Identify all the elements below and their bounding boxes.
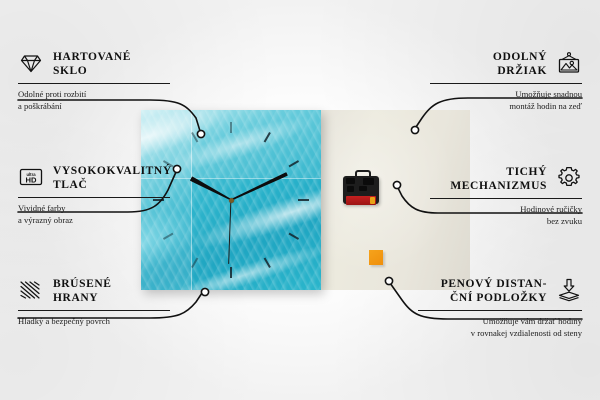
picture-frame-icon: [556, 50, 582, 76]
feature-description: Hladký a bezpečný povrch: [18, 316, 170, 328]
feature-divider: [18, 83, 170, 84]
feature-description: Odolné proti rozbití a poškrábání: [18, 89, 170, 112]
product-photo: [141, 110, 470, 290]
clock-movement: [343, 170, 379, 204]
feature-description: Umožňuje vám držať hodiny v rovnakej vzd…: [418, 316, 582, 339]
feature-title: PENOVÝ DISTAN- ČNÍ PODLOŽKY: [441, 277, 547, 305]
feature-tempered-glass: HARTOVANÉ SKLO Odolné proti rozbití a po…: [18, 50, 170, 112]
feature-high-quality-print: ultra HD VYSOKOKVALITNÝ TLAČ Vividné far…: [18, 164, 170, 226]
gear-icon: [556, 165, 582, 191]
movement-battery: [346, 196, 376, 205]
feature-title: VYSOKOKVALITNÝ TLAČ: [53, 164, 172, 192]
clock-tick: [298, 199, 309, 201]
svg-text:HD: HD: [26, 176, 37, 185]
foam-spacer-pad: [369, 250, 383, 265]
battery-positive-terminal: [370, 197, 375, 204]
beveled-edges-icon: [18, 277, 44, 303]
feature-title: TICHÝ MECHANIZMUS: [450, 165, 547, 193]
feature-description: Hodinové ručičky bez zvuku: [430, 204, 582, 227]
movement-notch: [347, 186, 354, 192]
clock-center-cap: [229, 198, 234, 203]
feature-divider: [18, 310, 170, 311]
product-infographic: HARTOVANÉ SKLO Odolné proti rozbití a po…: [0, 0, 600, 400]
feature-durable-hanger: ODOLNÝ DRŽIAK Umožňuje snadnou montáž ho…: [430, 50, 582, 112]
movement-notch: [363, 178, 374, 185]
movement-notch: [346, 178, 355, 184]
feature-polished-edges: BRÚSENÉ HRANY Hladký a bezpečný povrch: [18, 277, 170, 328]
clock-tick: [230, 122, 232, 133]
ultra-hd-icon: ultra HD: [18, 164, 44, 190]
feature-description: Umožňuje snadnou montáž hodin na zeď: [430, 89, 582, 112]
press-layers-icon: [556, 277, 582, 303]
feature-divider: [430, 83, 582, 84]
diamond-icon: [18, 50, 44, 76]
feature-title: HARTOVANÉ SKLO: [53, 50, 131, 78]
feature-divider: [18, 197, 170, 198]
feature-title: ODOLNÝ DRŽIAK: [493, 50, 547, 78]
feature-divider: [418, 310, 582, 311]
feature-silent-mechanism: TICHÝ MECHANIZMUS Hodinové ručičky bez z…: [430, 165, 582, 227]
feature-foam-spacers: PENOVÝ DISTAN- ČNÍ PODLOŽKY Umožňuje vám…: [418, 277, 582, 339]
movement-notch: [359, 186, 367, 191]
feature-divider: [430, 198, 582, 199]
clock-tick: [230, 267, 232, 278]
movement-body: [343, 176, 379, 204]
feature-title: BRÚSENÉ HRANY: [53, 277, 112, 305]
feature-description: Vividné farby a výrazný obraz: [18, 203, 170, 226]
